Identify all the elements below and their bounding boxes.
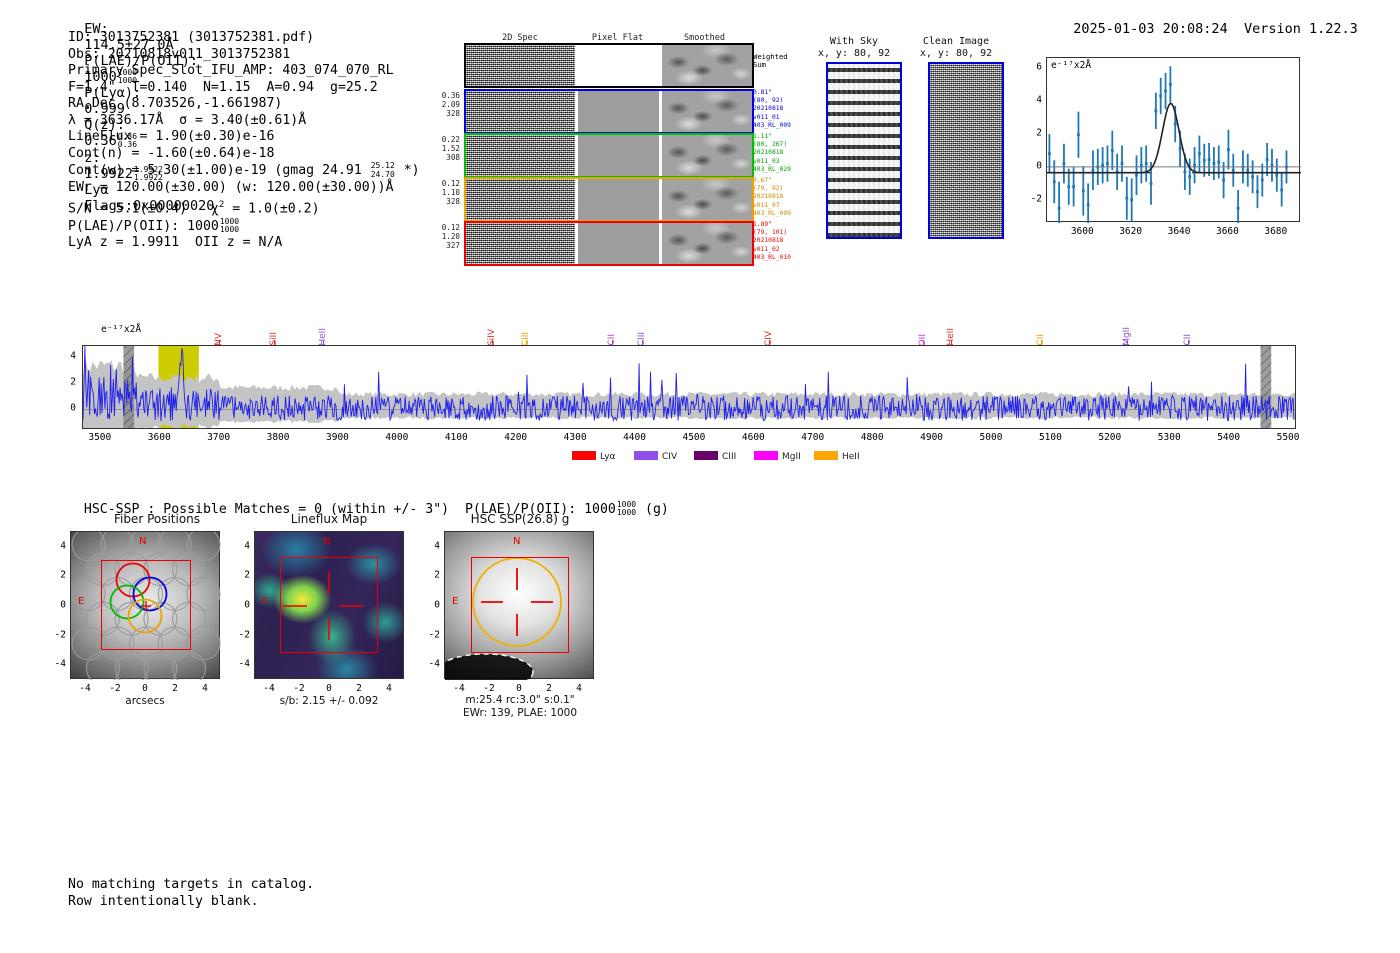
main-x-tick-label: 5100 bbox=[1039, 432, 1062, 443]
main-x-tick-label: 4800 bbox=[861, 432, 884, 443]
fiber-row-left-labels: 0.22 1.52 308 bbox=[430, 135, 460, 163]
clean-image bbox=[928, 62, 1004, 239]
main-y-tick-label: 4 bbox=[62, 350, 76, 361]
main-x-tick-label: 4400 bbox=[623, 432, 646, 443]
fiber-xy: (79, 92) bbox=[753, 185, 805, 193]
panel-x-tick-label: -2 bbox=[109, 683, 120, 694]
fiber-circle bbox=[115, 652, 148, 680]
legend-swatch bbox=[572, 451, 596, 460]
main-x-tick-label: 5300 bbox=[1158, 432, 1181, 443]
fiber-date: 20210818 bbox=[753, 193, 805, 201]
fiber-dist: 1.89" bbox=[753, 221, 805, 229]
main-x-tick-label: 4500 bbox=[682, 432, 705, 443]
clean-image-title-text: Clean Image bbox=[923, 36, 989, 47]
east-label: E bbox=[78, 596, 84, 607]
fiber-xy: (79, 101) bbox=[753, 229, 805, 237]
fiber-circle bbox=[86, 652, 119, 680]
panel-y-tick-label: -4 bbox=[424, 659, 440, 670]
fiber-amp: 403_RL_009 bbox=[753, 210, 805, 218]
panel-y-tick-label: -2 bbox=[50, 629, 66, 640]
fiber-column: 327 bbox=[430, 241, 460, 250]
clean-image-title: Clean Image x, y: 80, 92 bbox=[908, 36, 1004, 60]
with-sky-coords: x, y: 80, 92 bbox=[818, 48, 890, 59]
main-x-tick-label: 5000 bbox=[980, 432, 1003, 443]
lineflux-map-caption: s/b: 2.15 +/- 0.092 bbox=[254, 695, 404, 708]
info-redshift: LyA z = 1.9911 OII z = N/A bbox=[68, 235, 420, 252]
fiber-xy: (80, 92) bbox=[753, 97, 805, 105]
fiber-obs: v011_03 bbox=[753, 158, 805, 166]
column-title-smoothed: Smoothed bbox=[659, 33, 750, 43]
fiber-row bbox=[464, 221, 754, 266]
fiber-weight: 0.12 bbox=[430, 223, 460, 232]
report-timestamp-block: 2025-01-03 20:08:24 Version 1.22.3 bbox=[1057, 5, 1358, 37]
panel-x-tick-label: 2 bbox=[356, 683, 362, 694]
timestamp: 2025-01-03 20:08:24 bbox=[1073, 21, 1227, 37]
fit-x-tick-label: 3660 bbox=[1216, 226, 1239, 237]
panel-x-tick-label: -4 bbox=[263, 683, 274, 694]
legend-swatch bbox=[814, 451, 838, 460]
main-y-tick-label: 2 bbox=[62, 377, 76, 388]
fiber-row-right-labels: 1.89" (79, 101) 20210818 v011_02 403_RL_… bbox=[753, 221, 805, 262]
fiber-date: 20210818 bbox=[753, 237, 805, 245]
footer-note: No matching targets in catalog. Row inte… bbox=[68, 876, 314, 910]
emission-line-fit-plot: e⁻¹⁷x2Å bbox=[1046, 57, 1300, 222]
fit-plot-svg bbox=[1047, 58, 1301, 223]
legend-entry-heii: HeII bbox=[814, 451, 860, 462]
panel-x-tick-label: -4 bbox=[79, 683, 90, 694]
fiber-weight: 0.12 bbox=[430, 179, 460, 188]
fiber-column: 328 bbox=[430, 109, 460, 118]
legend-entry-lya: Lyα bbox=[572, 451, 615, 462]
main-x-tick-label: 5400 bbox=[1217, 432, 1240, 443]
hsc-ssp-red-box bbox=[471, 557, 569, 653]
main-x-tick-label: 3900 bbox=[326, 432, 349, 443]
info-lineflux: LineFlux = 1.90(±0.30)e-16 bbox=[68, 129, 420, 146]
info-radec: RA,Dec (8.703526,-1.661987) bbox=[68, 96, 420, 113]
with-sky-title-text: With Sky bbox=[830, 36, 878, 47]
fiber-positions-xlabel: arcsecs bbox=[70, 695, 220, 708]
fiber-row bbox=[464, 133, 754, 178]
hsc-ssp-caption: m:25.4 rc:3.0" s:0.1" EWr: 139, PLAE: 10… bbox=[440, 694, 600, 720]
fiber-row-right-labels: 0.81" (80, 92) 20210818 v011_01 403_RL_0… bbox=[753, 89, 805, 130]
hsc-ssp-plot: N E bbox=[444, 531, 594, 679]
main-x-tick-label: 5500 bbox=[1277, 432, 1300, 443]
fiber-circle bbox=[144, 652, 177, 680]
fit-y-tick-label: -2 bbox=[1024, 193, 1042, 204]
sn-pre: S/N = 5.1(±0.4) χ bbox=[68, 201, 219, 216]
east-label: E bbox=[262, 596, 268, 607]
hsc-ssp-title: HSC SSP(26.8) g bbox=[430, 512, 610, 526]
clean-image-coords: x, y: 80, 92 bbox=[920, 48, 992, 59]
fiber-sn: 1.20 bbox=[430, 232, 460, 241]
full-spectrum-plot: e⁻¹⁷x2Å bbox=[82, 345, 1296, 429]
panel-x-tick-label: 2 bbox=[546, 683, 552, 694]
fiber-dist: 1.11" bbox=[753, 133, 805, 141]
main-x-tick-label: 4000 bbox=[385, 432, 408, 443]
main-y-tick-label: 0 bbox=[62, 403, 76, 414]
panel-y-tick-label: 2 bbox=[50, 570, 66, 581]
fiber-obs: v011_01 bbox=[753, 114, 805, 122]
fiber-sn: 1.10 bbox=[430, 188, 460, 197]
fiber-dist: 0.67" bbox=[753, 177, 805, 185]
fiber-row-right-labels: 1.11" (80, 267) 20210818 v011_03 403_RL_… bbox=[753, 133, 805, 174]
fiber-obs: v011_02 bbox=[753, 246, 805, 254]
fiber-obs: v011_07 bbox=[753, 202, 805, 210]
hsc-header-post: (g) bbox=[637, 502, 669, 517]
info-slot: Primary Spec_Slot_IFU_AMP: 403_074_070_R… bbox=[68, 63, 420, 80]
fiber-column: 328 bbox=[430, 197, 460, 206]
fiber-row-left-labels: 0.12 1.10 328 bbox=[430, 179, 460, 207]
cont-w-pre: Cont(w) = 5.30(±1.00)e-19 (gmag 24.91 bbox=[68, 164, 370, 179]
column-title-2dspec: 2D Spec bbox=[464, 33, 576, 43]
lineflux-map-plot: N E bbox=[254, 531, 404, 679]
panel-y-tick-label: 4 bbox=[50, 540, 66, 551]
info-id: ID: 3013752381 (3013752381.pdf) bbox=[68, 30, 420, 47]
two-d-spectrum-panels: 2D Spec Pixel Flat Smoothed Weighted Sum… bbox=[430, 33, 790, 245]
panel-x-tick-label: 4 bbox=[576, 683, 582, 694]
legend-label: Lyα bbox=[600, 452, 615, 462]
panel-y-tick-label: 2 bbox=[234, 570, 250, 581]
version-label: Version 1.22.3 bbox=[1244, 21, 1358, 37]
column-title-pixelflat: Pixel Flat bbox=[576, 33, 659, 43]
cont-w-post: *) bbox=[396, 164, 420, 179]
info-plae: P(LAE)/P(OII): 100010001000 bbox=[68, 218, 420, 236]
fiber-positions-title: Fiber Positions bbox=[62, 512, 252, 526]
panel-y-tick-label: -4 bbox=[234, 659, 250, 670]
north-label: N bbox=[323, 536, 330, 547]
legend-entry-civ: CIV bbox=[634, 451, 677, 462]
legend-swatch bbox=[634, 451, 658, 460]
info-obs: Obs: 20210818v011_3013752381 bbox=[68, 47, 420, 64]
fiber-xy: (80, 267) bbox=[753, 141, 805, 149]
gmag-lo: 24.70 bbox=[371, 170, 395, 179]
footer-line-1: No matching targets in catalog. bbox=[68, 876, 314, 893]
emission-line-markers: NVSiIIHeIISiIVCIIICIICIIICIVOIIHeIICIIMg… bbox=[82, 310, 1296, 346]
with-sky-image bbox=[826, 62, 902, 239]
hsc-ssp-caption-line2: EWr: 139, PLAE: 1000 bbox=[463, 707, 577, 719]
fiber-date: 20210818 bbox=[753, 105, 805, 113]
panel-y-tick-label: 0 bbox=[234, 600, 250, 611]
east-label: E bbox=[452, 596, 458, 607]
fit-y-tick-label: 4 bbox=[1024, 94, 1042, 105]
info-plae-range: 10001000 bbox=[220, 218, 239, 234]
fiber-column: 308 bbox=[430, 153, 460, 162]
fiber-circle bbox=[173, 652, 206, 680]
fiber-amp: 403_RL_010 bbox=[753, 254, 805, 262]
legend-label: CIV bbox=[662, 452, 677, 462]
weighted-sum-label: Weighted Sum bbox=[753, 53, 805, 69]
fiber-date: 20210818 bbox=[753, 149, 805, 157]
gmag-range: 25.1224.70 bbox=[371, 162, 395, 178]
source-info-block: ID: 3013752381 (3013752381.pdf) Obs: 202… bbox=[68, 30, 420, 252]
legend-label: HeII bbox=[842, 452, 860, 462]
fit-y-tick-label: 0 bbox=[1024, 160, 1042, 171]
fit-x-tick-label: 3680 bbox=[1264, 226, 1287, 237]
fiber-row-right-labels: 0.67" (79, 92) 20210818 v011_07 403_RL_0… bbox=[753, 177, 805, 218]
panel-x-tick-label: 2 bbox=[172, 683, 178, 694]
with-sky-title: With Sky x, y: 80, 92 bbox=[806, 36, 902, 60]
fit-y-tick-label: 2 bbox=[1024, 127, 1042, 138]
legend-swatch bbox=[754, 451, 778, 460]
info-plae-pre: P(LAE)/P(OII): 1000 bbox=[68, 219, 219, 234]
weighted-sum-row bbox=[464, 43, 754, 88]
panel-x-tick-label: -4 bbox=[453, 683, 464, 694]
fiber-row bbox=[464, 89, 754, 134]
panel-y-tick-label: -4 bbox=[50, 659, 66, 670]
hsc-ssp-caption-line1: m:25.4 rc:3.0" s:0.1" bbox=[465, 694, 574, 706]
panel-x-tick-label: 0 bbox=[326, 683, 332, 694]
panel-x-tick-label: -2 bbox=[293, 683, 304, 694]
fit-plot-unit-label: e⁻¹⁷x2Å bbox=[1051, 60, 1091, 71]
footer-line-2: Row intentionally blank. bbox=[68, 893, 314, 910]
main-x-tick-label: 3600 bbox=[148, 432, 171, 443]
fiber-weight: 0.22 bbox=[430, 135, 460, 144]
legend-entry-mgii: MgII bbox=[754, 451, 801, 462]
main-x-tick-label: 4900 bbox=[920, 432, 943, 443]
fiber-positions-plot: N E bbox=[70, 531, 220, 679]
fit-x-tick-label: 3600 bbox=[1071, 226, 1094, 237]
info-sn: S/N = 5.1(±0.4) χ2 = 1.0(±0.2) bbox=[68, 197, 420, 218]
north-label: N bbox=[139, 536, 146, 547]
fiber-sn: 1.52 bbox=[430, 144, 460, 153]
info-seeing: F=1.4" T=0.140 N=1.15 A=0.94 g=25.2 bbox=[68, 80, 420, 97]
sn-post: = 1.0(±0.2) bbox=[224, 201, 319, 216]
fiber-sn: 2.09 bbox=[430, 100, 460, 109]
fiber-dist: 0.81" bbox=[753, 89, 805, 97]
panel-y-tick-label: -2 bbox=[424, 629, 440, 640]
fit-x-tick-label: 3640 bbox=[1168, 226, 1191, 237]
panel-y-tick-label: 2 bbox=[424, 570, 440, 581]
main-x-tick-label: 3700 bbox=[207, 432, 230, 443]
main-x-tick-label: 4200 bbox=[504, 432, 527, 443]
panel-x-tick-label: 4 bbox=[202, 683, 208, 694]
fiber-row bbox=[464, 177, 754, 222]
main-x-tick-label: 4100 bbox=[445, 432, 468, 443]
panel-x-tick-label: -2 bbox=[483, 683, 494, 694]
fiber-weight: 0.36 bbox=[430, 91, 460, 100]
panel-y-tick-label: -2 bbox=[234, 629, 250, 640]
panel-x-tick-label: 4 bbox=[386, 683, 392, 694]
fiber-positions-red-box bbox=[101, 560, 191, 650]
main-x-tick-label: 4300 bbox=[564, 432, 587, 443]
info-plae-lo: 1000 bbox=[220, 225, 239, 234]
lineflux-crosshair bbox=[255, 532, 405, 680]
info-ewr: EWr = 120.00(±30.00) (w: 120.00(±30.00))… bbox=[68, 180, 420, 197]
main-x-tick-label: 5200 bbox=[1098, 432, 1121, 443]
full-spectrum-svg bbox=[83, 346, 1295, 428]
main-x-tick-label: 3500 bbox=[88, 432, 111, 443]
info-cont-n: Cont(n) = -1.60(±0.64)e-18 bbox=[68, 146, 420, 163]
fiber-row-left-labels: 0.12 1.20 327 bbox=[430, 223, 460, 251]
legend-label: MgII bbox=[782, 452, 801, 462]
legend-entry-ciii: CIII bbox=[694, 451, 736, 462]
info-lambda: λ = 3636.17Å σ = 3.40(±0.61)Å bbox=[68, 113, 420, 130]
panel-y-tick-label: 4 bbox=[234, 540, 250, 551]
main-x-tick-label: 4600 bbox=[742, 432, 765, 443]
main-x-tick-label: 4700 bbox=[801, 432, 824, 443]
panel-y-tick-label: 4 bbox=[424, 540, 440, 551]
fit-y-tick-label: 6 bbox=[1024, 61, 1042, 72]
panel-y-tick-label: 0 bbox=[424, 600, 440, 611]
fiber-amp: 403_RL_029 bbox=[753, 166, 805, 174]
main-spec-unit-label: e⁻¹⁷x2Å bbox=[101, 324, 141, 335]
fiber-row-left-labels: 0.36 2.09 328 bbox=[430, 91, 460, 119]
info-cont-w: Cont(w) = 5.30(±1.00)e-19 (gmag 24.91 25… bbox=[68, 162, 420, 180]
panel-x-tick-label: 0 bbox=[142, 683, 148, 694]
legend-swatch bbox=[694, 451, 718, 460]
hsc-plae-range: 10001000 bbox=[617, 501, 636, 517]
fit-x-tick-label: 3620 bbox=[1119, 226, 1142, 237]
lineflux-map-title: Lineflux Map bbox=[249, 512, 409, 526]
panel-y-tick-label: 0 bbox=[50, 600, 66, 611]
fiber-amp: 403_RL_009 bbox=[753, 122, 805, 130]
legend-label: CIII bbox=[722, 452, 736, 462]
panel-x-tick-label: 0 bbox=[516, 683, 522, 694]
main-x-tick-label: 3800 bbox=[267, 432, 290, 443]
hsc-plae-lo: 1000 bbox=[617, 508, 636, 517]
north-label: N bbox=[513, 536, 520, 547]
